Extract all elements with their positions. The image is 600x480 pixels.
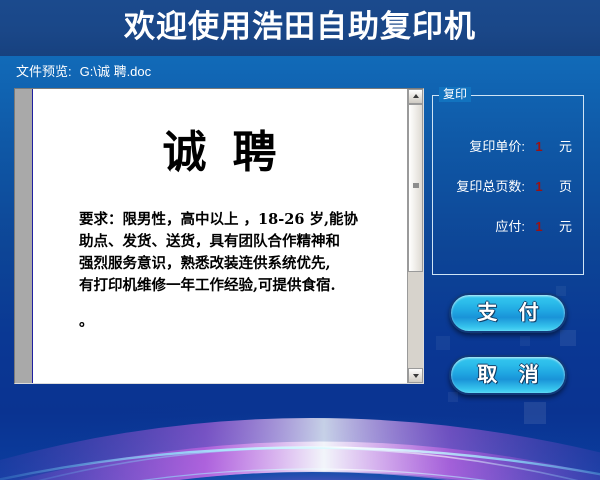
field-amount-due: 应付: 1 元 — [431, 218, 591, 236]
field-total-pages: 复印总页数: 1 页 — [431, 178, 591, 196]
field-unit-price-label: 复印单价: — [431, 138, 525, 156]
copy-settings-legend: 复印 — [439, 87, 471, 102]
document-heading: 诚聘 — [33, 127, 406, 179]
cancel-button[interactable]: 取 消 — [449, 355, 567, 395]
field-unit-price: 复印单价: 1 元 — [431, 138, 591, 156]
field-total-pages-label: 复印总页数: — [431, 178, 525, 196]
copier-kiosk-window: 欢迎使用浩田自助复印机 文件预览:G:\诚 聘.doc 诚聘 要求：限男性，高中… — [0, 0, 600, 480]
pay-button[interactable]: 支 付 — [449, 293, 567, 333]
document-body-line: 助点、发货、送货，具有团队合作精神和 — [79, 231, 406, 253]
document-preview-pane[interactable]: 诚聘 要求：限男性，高中以上 ，18-26 岁,能协 助点、发货、送货，具有团队… — [14, 88, 424, 384]
file-preview-label: 文件预览:G:\诚 聘.doc — [16, 64, 151, 80]
document-body-line: 强烈服务意识，熟悉改装连供系统优先, — [79, 253, 406, 275]
file-preview-filename: G:\诚 聘.doc — [80, 64, 152, 79]
page-title: 欢迎使用浩田自助复印机 — [0, 5, 600, 49]
scrollbar-thumb[interactable] — [408, 104, 423, 272]
copy-settings-group: 复印 复印单价: 1 元 复印总页数: 1 页 应付: 1 元 — [432, 95, 584, 275]
preview-left-gutter — [15, 89, 33, 383]
scrollbar-grip-icon — [413, 183, 419, 188]
scroll-up-arrow-icon[interactable] — [408, 89, 423, 104]
field-total-pages-unit: 页 — [559, 178, 579, 196]
file-preview-caption: 文件预览: — [16, 64, 72, 79]
document-body-line: 要求：限男性，高中以上 ，18-26 岁,能协 — [79, 209, 406, 231]
field-amount-due-unit: 元 — [559, 218, 579, 236]
field-unit-price-unit: 元 — [559, 138, 579, 156]
app-header: 欢迎使用浩田自助复印机 — [0, 0, 600, 56]
document-body-line: 有打印机维修一年工作经验,可提供食宿. — [79, 275, 406, 297]
preview-vertical-scrollbar[interactable] — [407, 89, 423, 383]
field-amount-due-value: 1 — [531, 218, 547, 236]
scroll-down-arrow-icon[interactable] — [408, 368, 423, 383]
document-page: 诚聘 要求：限男性，高中以上 ，18-26 岁,能协 助点、发货、送货，具有团队… — [33, 89, 406, 383]
document-body-line: 。 — [79, 311, 406, 333]
field-total-pages-value: 1 — [531, 178, 547, 196]
field-amount-due-label: 应付: — [431, 218, 525, 236]
field-unit-price-value: 1 — [531, 138, 547, 156]
document-body: 要求：限男性，高中以上 ，18-26 岁,能协 助点、发货、送货，具有团队合作精… — [79, 209, 406, 333]
